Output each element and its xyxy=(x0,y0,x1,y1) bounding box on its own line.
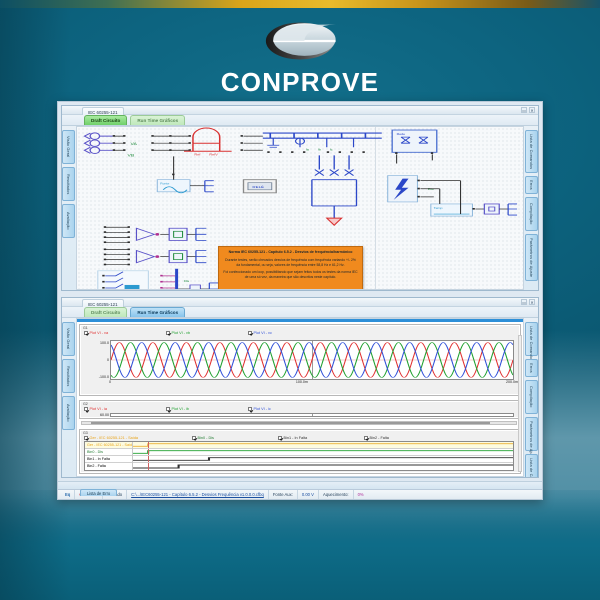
digital-row-label-bin0: Bin0 - Dis xyxy=(85,449,133,456)
digital-cursor-2[interactable] xyxy=(148,449,149,455)
signal-source-block: Fonte xyxy=(157,180,190,193)
legend-item-ger-saida[interactable]: Ger - IEC 60255-121 - Saída xyxy=(84,436,192,440)
legend-item-ic[interactable]: Plot VI - ic xyxy=(248,407,330,411)
merge-bus-block: Dis xyxy=(160,269,219,289)
document-runtime-graficos: IEC 60255-121 ▭ ✕ Draft Circuito Run Tim… xyxy=(61,297,539,478)
bus-bar xyxy=(263,133,382,138)
document-titlebar-bottom[interactable]: IEC 60255-121 ▭ ✕ xyxy=(62,298,538,307)
status-heating-label: Aquecimento: xyxy=(319,490,354,499)
legend-checkbox-vb[interactable] xyxy=(166,331,170,335)
sidebar-item-visao-geral[interactable]: Visão Geral xyxy=(62,130,75,164)
legend-item-ia[interactable]: Plot VI - ia xyxy=(84,407,166,411)
legend-item-bin2[interactable]: Bin2 - Falta xyxy=(364,436,434,440)
status-equipment-icon: Eq xyxy=(61,490,75,499)
svg-text:RefV: RefV xyxy=(209,153,219,156)
chart-g1-xtick-1: 100.0m xyxy=(296,380,308,384)
restore-button-bottom[interactable]: ▭ xyxy=(521,299,527,305)
tab-draft-circuito-bottom[interactable]: Draft Circuito xyxy=(84,307,127,317)
legend-checkbox-va[interactable] xyxy=(84,331,88,335)
transformer-block: Rede xyxy=(392,130,437,154)
tab-runtime-graficos-top[interactable]: Run Time Gráficos xyxy=(130,115,185,125)
status-aux-source-value: 0.00 V xyxy=(298,490,319,499)
logic-chain: Temp xyxy=(431,204,517,216)
ground-symbol xyxy=(327,218,342,225)
note-box[interactable]: Norma IEC 60255-121 - Capítulo 6.5.2 - D… xyxy=(218,246,363,290)
svg-text:Ref: Ref xyxy=(194,153,200,156)
three-phase-load xyxy=(312,155,357,218)
desktop-root: CONPROVE IEC 60255-121 ▭ ✕ Draft Circuit… xyxy=(0,0,600,600)
sidebar-item-compilacao-b[interactable]: Compilação xyxy=(525,380,538,414)
restore-button-top[interactable]: ▭ xyxy=(521,107,527,113)
legend-checkbox-vc[interactable] xyxy=(248,331,252,335)
legend-item-vb[interactable]: Plot VI - vb xyxy=(166,331,248,335)
tab-draft-circuito-top[interactable]: Draft Circuito xyxy=(84,115,127,125)
chart-g2-plot[interactable]: 60.00 xyxy=(110,413,514,417)
legend-label-ia: Plot VI - ia xyxy=(90,407,108,411)
svg-text:Fonte: Fonte xyxy=(160,182,169,185)
chart-panel-g2[interactable]: G2 Plot VI - ia Plot VI - ib xyxy=(79,400,521,419)
statusbar: Eq OFF Line Alterado C:\...\IEC60255-121… xyxy=(58,489,542,499)
note-line-1: Norma IEC 60255-121 - Capítulo 6.5.2 - D… xyxy=(223,250,358,255)
digital-row-track-ger-saida xyxy=(133,442,513,448)
svg-text:VA: VA xyxy=(131,142,137,146)
conprove-ellipse-logo xyxy=(255,18,345,64)
chart-g2-cursor[interactable] xyxy=(312,414,313,416)
scrollbar-thumb[interactable] xyxy=(91,422,490,424)
ribbon-tabs-bottom: Draft Circuito Run Time Gráficos xyxy=(62,307,538,318)
digital-row-track-bin2 xyxy=(133,463,513,470)
sidebar-left-top: Visão Geral Resultados Avaliação xyxy=(62,126,75,290)
svg-text:RELÉ: RELÉ xyxy=(252,185,264,189)
chart-g1-ytick-mid: 0 xyxy=(107,358,109,362)
legend-label-ic: Plot VI - ic xyxy=(254,407,271,411)
statusbar-wrapper: Lista de Erro Eq OFF Line Alterado C:\..… xyxy=(58,481,542,499)
svg-text:Temp: Temp xyxy=(434,207,443,210)
legend-label-ib: Plot VI - ib xyxy=(172,407,190,411)
legend-checkbox-ger-saida[interactable] xyxy=(84,436,88,440)
legend-label-vc: Plot VI - vc xyxy=(254,331,272,335)
sidebar-item-visao-geral-b[interactable]: Visão Geral xyxy=(62,322,75,356)
table-row[interactable]: Bin1 - In Falta xyxy=(85,456,513,463)
svg-text:VB: VB xyxy=(128,153,135,157)
legend-checkbox-ib[interactable] xyxy=(166,407,170,411)
legend-label-bin0: Bin0 - Dis xyxy=(198,436,214,440)
svg-text:Ic: Ic xyxy=(330,148,333,151)
desktop-bottom-gradient xyxy=(0,490,600,600)
note-line-2: Durante testes, serão checados desvios d… xyxy=(223,258,358,267)
legend-item-ib[interactable]: Plot VI - ib xyxy=(166,407,248,411)
legend-checkbox-ia[interactable] xyxy=(84,407,88,411)
digital-signal-table[interactable]: Ger - IEC 60255-121 - Saída Bin0 - Dis xyxy=(84,441,514,471)
charts-container[interactable]: G1 Plot VI - va Plot VI - vb xyxy=(76,318,524,477)
legend-item-bin1[interactable]: Bin1 - In Falta xyxy=(278,436,364,440)
error-list-tabrow: Lista de Erro xyxy=(58,481,542,489)
chart-g1-legend: Plot VI - va Plot VI - vb Plot VI - vc xyxy=(80,330,520,336)
sidebar-item-resultados-b[interactable]: Resultados xyxy=(62,359,75,393)
top-accent-bar xyxy=(0,0,600,8)
sidebar-left-bottom: Visão Geral Resultados Avaliação xyxy=(62,318,75,477)
digital-row-track-bin1 xyxy=(133,456,513,462)
svg-text:Ib: Ib xyxy=(318,148,321,151)
digital-cursor-4[interactable] xyxy=(148,463,149,470)
circuit-canvas[interactable]: VA VB xyxy=(76,126,524,290)
chart-g2-legend: Plot VI - ia Plot VI - ib Plot VI - ic xyxy=(80,406,520,412)
sidebar-item-parametros-ajuste-b[interactable]: Parâmetros de Ajuste xyxy=(525,417,538,451)
legend-label-ger-saida: Ger - IEC 60255-121 - Saída xyxy=(90,436,139,440)
bus-terminals xyxy=(241,135,243,151)
digital-row-label-ger-saida: Ger - IEC 60255-121 - Saída xyxy=(85,442,133,449)
logic-gate-row-1 xyxy=(104,226,207,243)
legend-label-vb: Plot VI - vb xyxy=(172,331,191,335)
brand-name: CONPROVE xyxy=(0,67,600,98)
application-window: IEC 60255-121 ▭ ✕ Draft Circuito Run Tim… xyxy=(57,101,543,500)
legend-checkbox-bin2[interactable] xyxy=(364,436,368,440)
sidebar-item-compilacao[interactable]: Compilação xyxy=(525,197,538,231)
chart-g1-ytick-max: 100.0 xyxy=(100,341,109,345)
legend-checkbox-bin1[interactable] xyxy=(278,436,282,440)
brand-logo: CONPROVE xyxy=(0,18,600,98)
chart-g1-ytick-min: -100.0 xyxy=(99,375,109,379)
chart-header-stripe xyxy=(77,319,523,322)
sidebar-right-bottom: Lista de Comandos Erros Compilação Parâm… xyxy=(525,318,538,477)
binary-input-panel xyxy=(98,271,149,289)
close-button-top[interactable]: ✕ xyxy=(529,107,535,113)
legend-checkbox-bin0[interactable] xyxy=(192,436,196,440)
close-button-bottom[interactable]: ✕ xyxy=(529,299,535,305)
legend-checkbox-ic[interactable] xyxy=(248,407,252,411)
sidebar-item-avaliacao-b[interactable]: Avaliação xyxy=(62,396,75,430)
svg-text:Dis: Dis xyxy=(184,280,190,283)
legend-label-bin2: Bin2 - Falta xyxy=(370,436,389,440)
sidebar-item-lista-canais-b[interactable]: Lista de Canais xyxy=(525,454,538,478)
document-draft-circuito: IEC 60255-121 ▭ ✕ Draft Circuito Run Tim… xyxy=(61,105,539,291)
sidebar-item-parametros-ajuste[interactable]: Parâmetros de Ajuste xyxy=(525,234,538,281)
sidebar-item-lista-comandos[interactable]: Lista de Comandos xyxy=(525,130,538,173)
note-line-3: Foi confeccionado um loop, possibilitand… xyxy=(223,270,358,279)
tab-runtime-graficos-bottom[interactable]: Run Time Gráficos xyxy=(130,307,185,317)
document-titlebar-top[interactable]: IEC 60255-121 ▭ ✕ xyxy=(62,106,538,115)
breaker-block xyxy=(388,176,420,202)
relay-block: RELÉ xyxy=(244,180,277,193)
legend-item-bin0[interactable]: Bin0 - Dis xyxy=(192,436,278,440)
digital-row-label-bin1: Bin1 - In Falta xyxy=(85,456,133,463)
ribbon-tabs-top: Draft Circuito Run Time Gráficos xyxy=(62,115,538,126)
table-row[interactable]: Ger - IEC 60255-121 - Saída xyxy=(85,442,513,449)
chart-g1-xtick-2: 200.0m xyxy=(506,380,518,384)
digital-row-track-bin0 xyxy=(133,449,513,455)
sidebar-right-top: Lista de Comandos Erros Compilação Parâm… xyxy=(525,126,538,290)
svg-text:Ia: Ia xyxy=(306,148,309,151)
sidebar-item-avaliacao[interactable]: Avaliação xyxy=(62,204,75,238)
window-buttons-bottom: ▭ ✕ xyxy=(521,299,535,305)
chart-g1-xtick-0: 0 xyxy=(109,380,111,384)
voltage-source-bank xyxy=(84,133,112,154)
sidebar-item-erros[interactable]: Erros xyxy=(525,176,538,194)
legend-label-va: Plot VI - va xyxy=(90,331,109,335)
charts-vertical-scrollbar[interactable] xyxy=(518,335,522,472)
output-connector-1 xyxy=(205,181,214,192)
canvas-outer-top: Visão Geral Resultados Avaliação Lista d… xyxy=(62,126,538,290)
charts-horizontal-scrollbar[interactable] xyxy=(81,421,517,425)
svg-text:Rede: Rede xyxy=(397,133,406,136)
legend-item-vc[interactable]: Plot VI - vc xyxy=(248,331,330,335)
table-row[interactable]: Bin2 - Falta xyxy=(85,463,513,470)
table-row[interactable]: Bin0 - Dis xyxy=(85,449,513,456)
sidebar-item-resultados[interactable]: Resultados xyxy=(62,167,75,201)
legend-item-va[interactable]: Plot VI - va xyxy=(84,331,166,335)
sidebar-item-erros-b[interactable]: Erros xyxy=(525,359,538,377)
chart-panel-g1[interactable]: G1 Plot VI - va Plot VI - vb xyxy=(79,324,521,396)
digital-cursor-1[interactable] xyxy=(148,442,149,448)
canvas-outer-bottom: Visão Geral Resultados Avaliação Lista d… xyxy=(62,318,538,477)
window-buttons-top: ▭ ✕ xyxy=(521,107,535,113)
status-aux-source-label: Fonte Aux: xyxy=(269,490,298,499)
tab-lista-de-erro[interactable]: Lista de Erro xyxy=(80,489,117,496)
legend-label-bin1: Bin1 - In Falta xyxy=(284,436,308,440)
sidebar-item-lista-comandos-b[interactable]: Lista de Comandos xyxy=(525,322,538,356)
status-file-path[interactable]: C:\...\IEC60255-121 - Capítulo 6.5.2 - D… xyxy=(127,490,269,499)
chart-g1-plot[interactable]: 100.0 0 -100.0 0 100.0m 200.0m xyxy=(110,340,514,380)
digital-cursor-3[interactable] xyxy=(148,456,149,462)
status-heating-value: 0% xyxy=(354,490,368,499)
digital-row-label-bin2: Bin2 - Falta xyxy=(85,463,133,470)
logic-gate-row-2 xyxy=(104,249,207,266)
chart-g1-series-paths xyxy=(111,341,513,379)
chart-panel-g3[interactable]: G3 Ger - IEC 60255-121 - Saída Bin0 - Di… xyxy=(79,429,521,474)
chart-g2-ytick-max: 60.00 xyxy=(100,413,109,417)
arc-element xyxy=(193,128,220,143)
